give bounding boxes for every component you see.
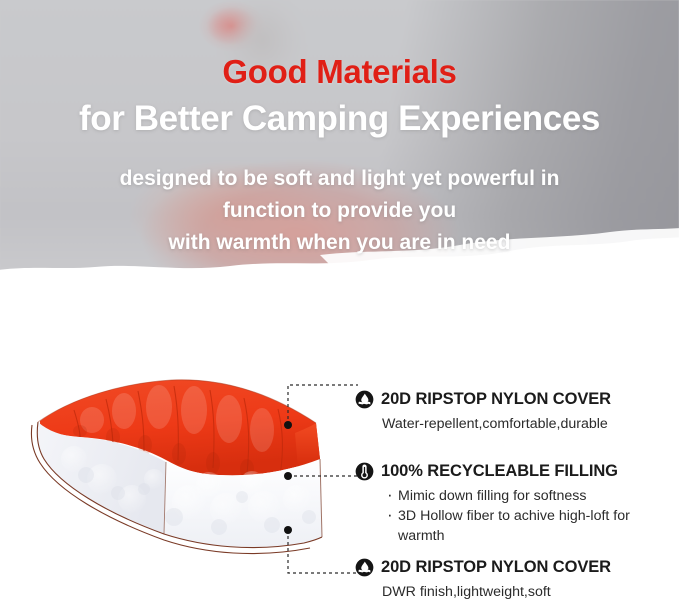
sleeping-bag-cross-section-illustration bbox=[14, 367, 354, 582]
spec-item-1-header: 20D RIPSTOP NYLON COVER bbox=[355, 388, 679, 410]
spec-item-2-header: 100% RECYCLEABLE FILLING bbox=[355, 460, 679, 482]
hero-banner: Good Materials for Better Camping Experi… bbox=[0, 0, 679, 345]
spec-item-3-header: 20D RIPSTOP NYLON COVER bbox=[355, 556, 679, 578]
spec-item-2-bullets: Mimic down filling for softness 3D Hollo… bbox=[387, 486, 679, 546]
spec-item-2-title: 100% RECYCLEABLE FILLING bbox=[381, 462, 618, 481]
spec-item-2-bullet-1: Mimic down filling for softness bbox=[387, 486, 679, 506]
spec-item-2: 100% RECYCLEABLE FILLING Mimic down fill… bbox=[355, 460, 679, 546]
page-subtitle: for Better Camping Experiences bbox=[0, 99, 679, 139]
spec-item-1-title: 20D RIPSTOP NYLON COVER bbox=[381, 390, 611, 409]
spec-label-column: 20D RIPSTOP NYLON COVER Water-repellent,… bbox=[355, 345, 679, 611]
page-title: Good Materials bbox=[0, 53, 679, 91]
spec-item-3-description: DWR finish,lightweight,soft bbox=[382, 583, 679, 602]
spec-item-3-title: 20D RIPSTOP NYLON COVER bbox=[381, 558, 611, 577]
thermometer-icon bbox=[355, 462, 374, 481]
hero-bottom-fade bbox=[0, 275, 679, 345]
hero-tagline: designed to be soft and light yet powerf… bbox=[0, 163, 679, 259]
spec-item-1: 20D RIPSTOP NYLON COVER Water-repellent,… bbox=[355, 388, 679, 434]
hero-tagline-line-2: function to provide you bbox=[0, 195, 679, 227]
water-drop-icon bbox=[355, 390, 374, 409]
spec-item-3: 20D RIPSTOP NYLON COVER DWR finish,light… bbox=[355, 556, 679, 602]
spec-item-1-description: Water-repellent,comfortable,durable bbox=[382, 415, 679, 434]
specifications-section: 20D RIPSTOP NYLON COVER Water-repellent,… bbox=[0, 345, 679, 611]
hero-tagline-line-3: with warmth when you are in need bbox=[0, 227, 679, 259]
product-infographic-page: Good Materials for Better Camping Experi… bbox=[0, 0, 679, 611]
water-drop-icon bbox=[355, 558, 374, 577]
hero-tagline-line-1: designed to be soft and light yet powerf… bbox=[0, 163, 679, 195]
spec-item-2-bullet-2: 3D Hollow fiber to achive high-loft for … bbox=[387, 506, 679, 546]
